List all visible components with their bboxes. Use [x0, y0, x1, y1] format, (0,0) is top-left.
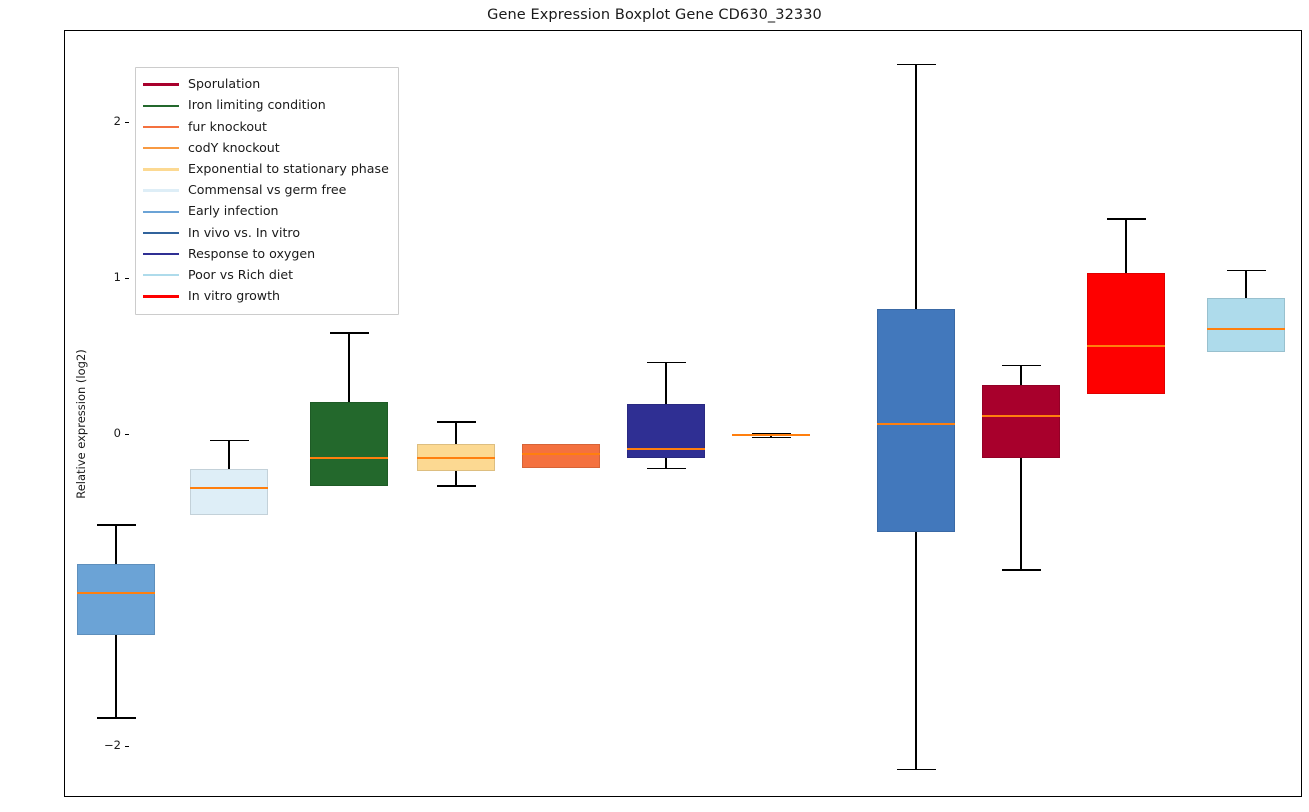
whisker-upper — [1020, 365, 1021, 385]
whisker-upper — [228, 440, 229, 470]
legend: SporulationIron limiting conditionfur kn… — [135, 67, 399, 315]
median-line — [877, 423, 955, 425]
legend-item[interactable]: Commensal vs germ free — [143, 180, 389, 201]
legend-color-swatch — [143, 126, 179, 128]
whisker-cap-upper — [897, 64, 936, 66]
median-line — [77, 592, 155, 594]
box-iqr — [310, 402, 388, 486]
whisker-upper — [115, 524, 116, 565]
boxplot-box[interactable] — [877, 31, 955, 796]
median-line — [732, 434, 810, 436]
legend-item[interactable]: fur knockout — [143, 116, 389, 137]
boxplot-box[interactable] — [1207, 31, 1285, 796]
whisker-cap-lower — [1002, 569, 1041, 571]
legend-item[interactable]: codY knockout — [143, 138, 389, 159]
legend-item[interactable]: Iron limiting condition — [143, 95, 389, 116]
boxplot-box[interactable] — [982, 31, 1060, 796]
legend-color-swatch — [143, 211, 179, 213]
whisker-lower — [665, 458, 666, 467]
median-line — [310, 457, 388, 459]
box-iqr — [1087, 273, 1165, 395]
box-iqr — [1207, 298, 1285, 353]
legend-item-label: Response to oxygen — [188, 248, 315, 261]
box-iqr — [877, 309, 955, 532]
whisker-cap-lower — [437, 485, 476, 487]
legend-color-swatch — [143, 295, 179, 297]
whisker-lower — [455, 471, 456, 485]
box-iqr — [627, 404, 705, 459]
legend-item[interactable]: In vivo vs. In vitro — [143, 222, 389, 243]
median-line — [982, 415, 1060, 417]
boxplot-box[interactable] — [732, 31, 810, 796]
legend-color-swatch — [143, 232, 179, 234]
legend-color-swatch — [143, 83, 179, 85]
legend-item[interactable]: Response to oxygen — [143, 244, 389, 265]
whisker-lower — [915, 532, 916, 769]
legend-item[interactable]: Poor vs Rich diet — [143, 265, 389, 286]
legend-item[interactable]: Early infection — [143, 201, 389, 222]
legend-item-label: Sporulation — [188, 78, 260, 91]
legend-item-label: Poor vs Rich diet — [188, 269, 293, 282]
legend-item-label: In vitro growth — [188, 290, 280, 303]
legend-item[interactable]: Exponential to stationary phase — [143, 159, 389, 180]
whisker-upper — [915, 64, 916, 309]
boxplot-box[interactable] — [1087, 31, 1165, 796]
legend-color-swatch — [143, 253, 179, 255]
whisker-upper — [348, 332, 349, 402]
box-iqr — [522, 444, 600, 467]
whisker-cap-upper — [437, 421, 476, 423]
whisker-cap-upper — [1227, 270, 1266, 272]
legend-item-label: Exponential to stationary phase — [188, 163, 389, 176]
whisker-upper — [665, 362, 666, 404]
legend-color-swatch — [143, 147, 179, 149]
page-title: Gene Expression Boxplot Gene CD630_32330 — [0, 7, 1309, 23]
whisker-cap-lower — [97, 717, 136, 719]
whisker-cap-upper — [330, 332, 369, 334]
plot-frame: Relative expression (log2) 210−1−2 Sporu… — [64, 30, 1302, 797]
legend-color-swatch — [143, 189, 179, 191]
median-line — [522, 453, 600, 455]
whisker-cap-upper — [1002, 365, 1041, 367]
legend-item-label: fur knockout — [188, 121, 267, 134]
legend-item-label: In vivo vs. In vitro — [188, 227, 300, 240]
whisker-cap-upper — [1107, 218, 1146, 220]
median-line — [1087, 345, 1165, 347]
legend-color-swatch — [143, 274, 179, 276]
legend-item-label: Iron limiting condition — [188, 99, 326, 112]
median-line — [190, 487, 268, 489]
legend-color-swatch — [143, 168, 179, 170]
whisker-cap-upper — [97, 524, 136, 526]
whisker-cap-lower — [647, 468, 686, 470]
whisker-cap-upper — [210, 440, 249, 442]
boxplot-box[interactable] — [417, 31, 495, 796]
legend-item-label: Early infection — [188, 205, 279, 218]
whisker-cap-lower — [752, 437, 791, 439]
box-iqr — [190, 469, 268, 514]
whisker-cap-lower — [897, 769, 936, 771]
legend-color-swatch — [143, 105, 179, 107]
box-iqr — [77, 564, 155, 634]
legend-item[interactable]: In vitro growth — [143, 286, 389, 307]
chart-page: Gene Expression Boxplot Gene CD630_32330… — [0, 0, 1309, 812]
whisker-upper — [455, 421, 456, 444]
legend-item[interactable]: Sporulation — [143, 74, 389, 95]
median-line — [627, 448, 705, 450]
boxplot-box[interactable] — [627, 31, 705, 796]
whisker-lower — [1020, 458, 1021, 569]
whisker-cap-upper — [647, 362, 686, 364]
whisker-upper — [1245, 270, 1246, 298]
legend-item-label: codY knockout — [188, 142, 280, 155]
whisker-upper — [1125, 218, 1126, 273]
box-iqr — [982, 385, 1060, 458]
boxplot-box[interactable] — [522, 31, 600, 796]
median-line — [417, 457, 495, 459]
median-line — [1207, 328, 1285, 330]
whisker-lower — [115, 635, 116, 718]
legend-item-label: Commensal vs germ free — [188, 184, 346, 197]
